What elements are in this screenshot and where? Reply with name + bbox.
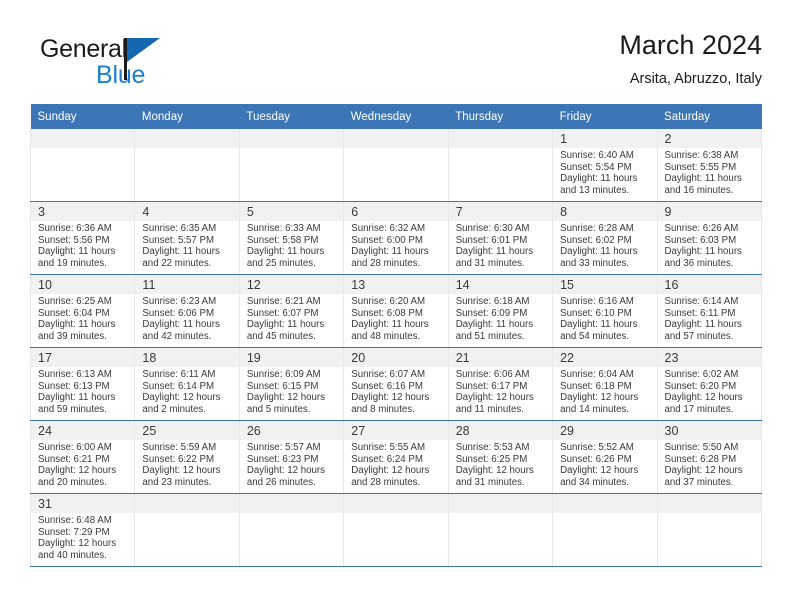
calendar-week-row: 31Sunrise: 6:48 AMSunset: 7:29 PMDayligh… [31, 494, 762, 567]
calendar-page: General Blue March 2024 Arsita, Abruzzo,… [0, 0, 792, 612]
day-number-band: 20 [344, 348, 447, 367]
sunset-text: Sunset: 6:16 PM [351, 381, 443, 393]
day-number: 30 [665, 424, 679, 438]
calendar-cell-day-27: 27Sunrise: 5:55 AMSunset: 6:24 PMDayligh… [344, 421, 448, 494]
daylight-text-line1: Daylight: 12 hours [142, 392, 234, 404]
sunrise-text: Sunrise: 6:26 AM [665, 223, 757, 235]
calendar-cell-day-1: 1Sunrise: 6:40 AMSunset: 5:54 PMDaylight… [553, 129, 657, 202]
day-number: 13 [351, 278, 365, 292]
daylight-text-line1: Daylight: 11 hours [142, 319, 234, 331]
day-number-band: 19 [240, 348, 343, 367]
calendar-cell-day-9: 9Sunrise: 6:26 AMSunset: 6:03 PMDaylight… [657, 202, 761, 275]
cell-inner: 31Sunrise: 6:48 AMSunset: 7:29 PMDayligh… [31, 494, 134, 566]
sunrise-text: Sunrise: 6:02 AM [665, 369, 757, 381]
calendar-body: 1Sunrise: 6:40 AMSunset: 5:54 PMDaylight… [31, 129, 762, 567]
sunset-text: Sunset: 6:28 PM [665, 454, 757, 466]
day-number-band: 10 [31, 275, 134, 294]
calendar-cell-empty [657, 494, 761, 567]
weekday-header-monday: Monday [135, 104, 239, 129]
weekday-header-wednesday: Wednesday [344, 104, 448, 129]
cell-inner [449, 494, 552, 566]
flag-triangle-icon [127, 38, 160, 62]
day-number-band: 18 [135, 348, 238, 367]
day-number-band [344, 494, 447, 513]
calendar-week-row: 3Sunrise: 6:36 AMSunset: 5:56 PMDaylight… [31, 202, 762, 275]
day-number-band: 9 [658, 202, 761, 221]
day-number: 1 [560, 132, 567, 146]
day-details: Sunrise: 6:21 AMSunset: 6:07 PMDaylight:… [240, 294, 343, 342]
sunrise-text: Sunrise: 5:52 AM [560, 442, 652, 454]
day-number: 15 [560, 278, 574, 292]
day-number: 6 [351, 205, 358, 219]
day-number: 4 [142, 205, 149, 219]
day-number-band [658, 494, 761, 513]
daylight-text-line2: and 28 minutes. [351, 258, 443, 270]
calendar-cell-empty [239, 129, 343, 202]
daylight-text-line1: Daylight: 12 hours [142, 465, 234, 477]
cell-inner [31, 129, 134, 201]
cell-inner: 1Sunrise: 6:40 AMSunset: 5:54 PMDaylight… [553, 129, 656, 201]
cell-inner: 8Sunrise: 6:28 AMSunset: 6:02 PMDaylight… [553, 202, 656, 274]
calendar-cell-empty [344, 494, 448, 567]
day-number-band: 15 [553, 275, 656, 294]
cell-inner: 24Sunrise: 6:00 AMSunset: 6:21 PMDayligh… [31, 421, 134, 493]
daylight-text-line1: Daylight: 12 hours [38, 465, 130, 477]
calendar-cell-day-3: 3Sunrise: 6:36 AMSunset: 5:56 PMDaylight… [31, 202, 135, 275]
day-number: 31 [38, 497, 52, 511]
day-number-band: 17 [31, 348, 134, 367]
daylight-text-line1: Daylight: 12 hours [560, 465, 652, 477]
cell-inner: 21Sunrise: 6:06 AMSunset: 6:17 PMDayligh… [449, 348, 552, 420]
daylight-text-line2: and 42 minutes. [142, 331, 234, 343]
day-number-band: 8 [553, 202, 656, 221]
day-number: 25 [142, 424, 156, 438]
day-number-band: 11 [135, 275, 238, 294]
day-number-band: 16 [658, 275, 761, 294]
calendar-cell-day-18: 18Sunrise: 6:11 AMSunset: 6:14 PMDayligh… [135, 348, 239, 421]
calendar-cell-day-11: 11Sunrise: 6:23 AMSunset: 6:06 PMDayligh… [135, 275, 239, 348]
day-number: 8 [560, 205, 567, 219]
sunset-text: Sunset: 6:20 PM [665, 381, 757, 393]
day-details: Sunrise: 6:06 AMSunset: 6:17 PMDaylight:… [449, 367, 552, 415]
cell-inner: 20Sunrise: 6:07 AMSunset: 6:16 PMDayligh… [344, 348, 447, 420]
cell-inner: 17Sunrise: 6:13 AMSunset: 6:13 PMDayligh… [31, 348, 134, 420]
daylight-text-line2: and 16 minutes. [665, 185, 757, 197]
day-number: 21 [456, 351, 470, 365]
daylight-text-line2: and 11 minutes. [456, 404, 548, 416]
sunrise-text: Sunrise: 6:32 AM [351, 223, 443, 235]
cell-inner: 26Sunrise: 5:57 AMSunset: 6:23 PMDayligh… [240, 421, 343, 493]
day-number: 17 [38, 351, 52, 365]
daylight-text-line1: Daylight: 12 hours [665, 465, 757, 477]
calendar-cell-day-23: 23Sunrise: 6:02 AMSunset: 6:20 PMDayligh… [657, 348, 761, 421]
day-number: 10 [38, 278, 52, 292]
sunrise-text: Sunrise: 6:36 AM [38, 223, 130, 235]
daylight-text-line2: and 2 minutes. [142, 404, 234, 416]
day-details: Sunrise: 6:23 AMSunset: 6:06 PMDaylight:… [135, 294, 238, 342]
day-number-band: 30 [658, 421, 761, 440]
day-number-band [344, 129, 447, 148]
daylight-text-line2: and 5 minutes. [247, 404, 339, 416]
day-number-band [240, 129, 343, 148]
day-number-band: 27 [344, 421, 447, 440]
daylight-text-line1: Daylight: 11 hours [142, 246, 234, 258]
daylight-text-line1: Daylight: 12 hours [247, 392, 339, 404]
calendar-cell-day-10: 10Sunrise: 6:25 AMSunset: 6:04 PMDayligh… [31, 275, 135, 348]
day-details: Sunrise: 6:40 AMSunset: 5:54 PMDaylight:… [553, 148, 656, 196]
daylight-text-line2: and 8 minutes. [351, 404, 443, 416]
daylight-text-line1: Daylight: 11 hours [38, 319, 130, 331]
daylight-text-line1: Daylight: 11 hours [665, 319, 757, 331]
daylight-text-line2: and 31 minutes. [456, 477, 548, 489]
calendar-cell-day-13: 13Sunrise: 6:20 AMSunset: 6:08 PMDayligh… [344, 275, 448, 348]
daylight-text-line2: and 59 minutes. [38, 404, 130, 416]
day-details: Sunrise: 6:38 AMSunset: 5:55 PMDaylight:… [658, 148, 761, 196]
day-details: Sunrise: 6:07 AMSunset: 6:16 PMDaylight:… [344, 367, 447, 415]
day-number: 9 [665, 205, 672, 219]
daylight-text-line2: and 45 minutes. [247, 331, 339, 343]
calendar-week-row: 1Sunrise: 6:40 AMSunset: 5:54 PMDaylight… [31, 129, 762, 202]
cell-inner: 29Sunrise: 5:52 AMSunset: 6:26 PMDayligh… [553, 421, 656, 493]
sunset-text: Sunset: 6:14 PM [142, 381, 234, 393]
cell-inner [344, 129, 447, 201]
day-number-band: 26 [240, 421, 343, 440]
daylight-text-line2: and 25 minutes. [247, 258, 339, 270]
day-number: 28 [456, 424, 470, 438]
sunrise-text: Sunrise: 6:14 AM [665, 296, 757, 308]
cell-inner: 3Sunrise: 6:36 AMSunset: 5:56 PMDaylight… [31, 202, 134, 274]
cell-inner [449, 129, 552, 201]
daylight-text-line2: and 13 minutes. [560, 185, 652, 197]
sunset-text: Sunset: 6:15 PM [247, 381, 339, 393]
day-number-band: 3 [31, 202, 134, 221]
calendar-cell-day-28: 28Sunrise: 5:53 AMSunset: 6:25 PMDayligh… [448, 421, 552, 494]
sunset-text: Sunset: 5:55 PM [665, 162, 757, 174]
day-details: Sunrise: 6:33 AMSunset: 5:58 PMDaylight:… [240, 221, 343, 269]
day-details: Sunrise: 6:28 AMSunset: 6:02 PMDaylight:… [553, 221, 656, 269]
cell-inner [135, 129, 238, 201]
day-number: 24 [38, 424, 52, 438]
calendar-cell-empty [344, 129, 448, 202]
day-number-band [135, 494, 238, 513]
daylight-text-line2: and 26 minutes. [247, 477, 339, 489]
sunrise-text: Sunrise: 6:25 AM [38, 296, 130, 308]
calendar-cell-empty [135, 129, 239, 202]
cell-inner [658, 494, 761, 566]
sunrise-text: Sunrise: 6:18 AM [456, 296, 548, 308]
daylight-text-line2: and 20 minutes. [38, 477, 130, 489]
sunrise-text: Sunrise: 6:00 AM [38, 442, 130, 454]
day-number: 23 [665, 351, 679, 365]
cell-inner [553, 494, 656, 566]
day-details: Sunrise: 6:11 AMSunset: 6:14 PMDaylight:… [135, 367, 238, 415]
day-number: 27 [351, 424, 365, 438]
sunset-text: Sunset: 6:00 PM [351, 235, 443, 247]
day-number: 3 [38, 205, 45, 219]
daylight-text-line2: and 48 minutes. [351, 331, 443, 343]
cell-inner: 23Sunrise: 6:02 AMSunset: 6:20 PMDayligh… [658, 348, 761, 420]
sunrise-text: Sunrise: 6:21 AM [247, 296, 339, 308]
calendar-week-row: 17Sunrise: 6:13 AMSunset: 6:13 PMDayligh… [31, 348, 762, 421]
day-number: 5 [247, 205, 254, 219]
sunset-text: Sunset: 5:54 PM [560, 162, 652, 174]
cell-inner [240, 129, 343, 201]
cell-inner: 15Sunrise: 6:16 AMSunset: 6:10 PMDayligh… [553, 275, 656, 347]
daylight-text-line1: Daylight: 12 hours [351, 465, 443, 477]
daylight-text-line1: Daylight: 12 hours [665, 392, 757, 404]
daylight-text-line1: Daylight: 11 hours [665, 173, 757, 185]
day-number: 12 [247, 278, 261, 292]
sunset-text: Sunset: 6:04 PM [38, 308, 130, 320]
daylight-text-line1: Daylight: 11 hours [351, 319, 443, 331]
cell-inner: 12Sunrise: 6:21 AMSunset: 6:07 PMDayligh… [240, 275, 343, 347]
sunrise-text: Sunrise: 5:57 AM [247, 442, 339, 454]
cell-inner: 19Sunrise: 6:09 AMSunset: 6:15 PMDayligh… [240, 348, 343, 420]
cell-inner [344, 494, 447, 566]
weekday-header-tuesday: Tuesday [239, 104, 343, 129]
cell-inner [240, 494, 343, 566]
sunset-text: Sunset: 6:17 PM [456, 381, 548, 393]
day-number: 2 [665, 132, 672, 146]
daylight-text-line2: and 19 minutes. [38, 258, 130, 270]
sunrise-text: Sunrise: 6:28 AM [560, 223, 652, 235]
daylight-text-line2: and 40 minutes. [38, 550, 130, 562]
brand-logo: General Blue [40, 34, 220, 94]
day-number-band: 22 [553, 348, 656, 367]
cell-inner: 5Sunrise: 6:33 AMSunset: 5:58 PMDaylight… [240, 202, 343, 274]
day-number-band [31, 129, 134, 148]
day-number: 18 [142, 351, 156, 365]
calendar-cell-day-16: 16Sunrise: 6:14 AMSunset: 6:11 PMDayligh… [657, 275, 761, 348]
calendar-week-row: 24Sunrise: 6:00 AMSunset: 6:21 PMDayligh… [31, 421, 762, 494]
weekday-header-saturday: Saturday [657, 104, 761, 129]
calendar-cell-day-12: 12Sunrise: 6:21 AMSunset: 6:07 PMDayligh… [239, 275, 343, 348]
sunrise-text: Sunrise: 6:16 AM [560, 296, 652, 308]
cell-inner: 18Sunrise: 6:11 AMSunset: 6:14 PMDayligh… [135, 348, 238, 420]
cell-inner: 16Sunrise: 6:14 AMSunset: 6:11 PMDayligh… [658, 275, 761, 347]
sunset-text: Sunset: 6:08 PM [351, 308, 443, 320]
day-details: Sunrise: 6:00 AMSunset: 6:21 PMDaylight:… [31, 440, 134, 488]
calendar-cell-day-14: 14Sunrise: 6:18 AMSunset: 6:09 PMDayligh… [448, 275, 552, 348]
calendar-cell-empty [448, 494, 552, 567]
calendar-cell-day-8: 8Sunrise: 6:28 AMSunset: 6:02 PMDaylight… [553, 202, 657, 275]
day-number-band [553, 494, 656, 513]
day-details: Sunrise: 6:04 AMSunset: 6:18 PMDaylight:… [553, 367, 656, 415]
page-subtitle: Arsita, Abruzzo, Italy [619, 68, 762, 90]
daylight-text-line1: Daylight: 11 hours [560, 173, 652, 185]
cell-inner: 25Sunrise: 5:59 AMSunset: 6:22 PMDayligh… [135, 421, 238, 493]
calendar-cell-day-4: 4Sunrise: 6:35 AMSunset: 5:57 PMDaylight… [135, 202, 239, 275]
day-details: Sunrise: 6:48 AMSunset: 7:29 PMDaylight:… [31, 513, 134, 561]
daylight-text-line1: Daylight: 11 hours [247, 319, 339, 331]
daylight-text-line1: Daylight: 11 hours [38, 392, 130, 404]
brand-name-blue: Blue [96, 60, 145, 90]
day-number-band [449, 494, 552, 513]
sunset-text: Sunset: 6:11 PM [665, 308, 757, 320]
sunset-text: Sunset: 5:58 PM [247, 235, 339, 247]
calendar-cell-day-15: 15Sunrise: 6:16 AMSunset: 6:10 PMDayligh… [553, 275, 657, 348]
sunset-text: Sunset: 6:01 PM [456, 235, 548, 247]
daylight-text-line1: Daylight: 12 hours [38, 538, 130, 550]
day-details: Sunrise: 6:25 AMSunset: 6:04 PMDaylight:… [31, 294, 134, 342]
sunset-text: Sunset: 6:22 PM [142, 454, 234, 466]
day-number-band [449, 129, 552, 148]
day-number: 7 [456, 205, 463, 219]
day-number-band: 2 [658, 129, 761, 148]
weekday-header-thursday: Thursday [448, 104, 552, 129]
day-number-band: 12 [240, 275, 343, 294]
daylight-text-line1: Daylight: 11 hours [247, 246, 339, 258]
sunset-text: Sunset: 6:18 PM [560, 381, 652, 393]
day-number-band: 24 [31, 421, 134, 440]
sunrise-text: Sunrise: 6:23 AM [142, 296, 234, 308]
daylight-text-line2: and 22 minutes. [142, 258, 234, 270]
day-number-band [240, 494, 343, 513]
weekday-header-friday: Friday [553, 104, 657, 129]
calendar-cell-day-19: 19Sunrise: 6:09 AMSunset: 6:15 PMDayligh… [239, 348, 343, 421]
calendar-cell-day-29: 29Sunrise: 5:52 AMSunset: 6:26 PMDayligh… [553, 421, 657, 494]
daylight-text-line2: and 33 minutes. [560, 258, 652, 270]
weekday-header-sunday: Sunday [31, 104, 135, 129]
sunrise-text: Sunrise: 6:30 AM [456, 223, 548, 235]
day-number: 22 [560, 351, 574, 365]
calendar-cell-empty [553, 494, 657, 567]
day-details: Sunrise: 5:55 AMSunset: 6:24 PMDaylight:… [344, 440, 447, 488]
calendar-cell-empty [239, 494, 343, 567]
day-number: 14 [456, 278, 470, 292]
page-header: General Blue March 2024 Arsita, Abruzzo,… [30, 28, 762, 98]
daylight-text-line2: and 28 minutes. [351, 477, 443, 489]
calendar-cell-empty [31, 129, 135, 202]
sunset-text: Sunset: 6:09 PM [456, 308, 548, 320]
daylight-text-line2: and 14 minutes. [560, 404, 652, 416]
sunrise-text: Sunrise: 6:06 AM [456, 369, 548, 381]
calendar-cell-day-25: 25Sunrise: 5:59 AMSunset: 6:22 PMDayligh… [135, 421, 239, 494]
sunset-text: Sunset: 6:03 PM [665, 235, 757, 247]
sunrise-text: Sunrise: 6:13 AM [38, 369, 130, 381]
day-number-band [135, 129, 238, 148]
cell-inner: 10Sunrise: 6:25 AMSunset: 6:04 PMDayligh… [31, 275, 134, 347]
day-number-band: 29 [553, 421, 656, 440]
day-number: 26 [247, 424, 261, 438]
daylight-text-line1: Daylight: 11 hours [38, 246, 130, 258]
sunrise-text: Sunrise: 5:59 AM [142, 442, 234, 454]
sunrise-text: Sunrise: 6:33 AM [247, 223, 339, 235]
calendar-cell-day-22: 22Sunrise: 6:04 AMSunset: 6:18 PMDayligh… [553, 348, 657, 421]
calendar-cell-day-20: 20Sunrise: 6:07 AMSunset: 6:16 PMDayligh… [344, 348, 448, 421]
day-details: Sunrise: 6:14 AMSunset: 6:11 PMDaylight:… [658, 294, 761, 342]
calendar-cell-day-26: 26Sunrise: 5:57 AMSunset: 6:23 PMDayligh… [239, 421, 343, 494]
day-number-band: 5 [240, 202, 343, 221]
day-number-band: 4 [135, 202, 238, 221]
daylight-text-line2: and 17 minutes. [665, 404, 757, 416]
day-number-band: 6 [344, 202, 447, 221]
sunset-text: Sunset: 5:56 PM [38, 235, 130, 247]
day-details: Sunrise: 5:52 AMSunset: 6:26 PMDaylight:… [553, 440, 656, 488]
page-title: March 2024 [619, 28, 762, 62]
calendar-cell-day-2: 2Sunrise: 6:38 AMSunset: 5:55 PMDaylight… [657, 129, 761, 202]
calendar-cell-day-17: 17Sunrise: 6:13 AMSunset: 6:13 PMDayligh… [31, 348, 135, 421]
cell-inner: 30Sunrise: 5:50 AMSunset: 6:28 PMDayligh… [658, 421, 761, 493]
cell-inner: 14Sunrise: 6:18 AMSunset: 6:09 PMDayligh… [449, 275, 552, 347]
daylight-text-line2: and 36 minutes. [665, 258, 757, 270]
day-details: Sunrise: 5:53 AMSunset: 6:25 PMDaylight:… [449, 440, 552, 488]
day-number-band: 23 [658, 348, 761, 367]
sunset-text: Sunset: 6:06 PM [142, 308, 234, 320]
day-number-band: 31 [31, 494, 134, 513]
sunset-text: Sunset: 6:07 PM [247, 308, 339, 320]
calendar-cell-day-24: 24Sunrise: 6:00 AMSunset: 6:21 PMDayligh… [31, 421, 135, 494]
day-number-band: 21 [449, 348, 552, 367]
daylight-text-line1: Daylight: 12 hours [247, 465, 339, 477]
sunrise-text: Sunrise: 6:48 AM [38, 515, 130, 527]
daylight-text-line1: Daylight: 12 hours [456, 465, 548, 477]
sunrise-text: Sunrise: 6:20 AM [351, 296, 443, 308]
day-number-band: 1 [553, 129, 656, 148]
calendar-cell-day-7: 7Sunrise: 6:30 AMSunset: 6:01 PMDaylight… [448, 202, 552, 275]
day-details: Sunrise: 6:32 AMSunset: 6:00 PMDaylight:… [344, 221, 447, 269]
sunset-text: Sunset: 6:25 PM [456, 454, 548, 466]
cell-inner: 22Sunrise: 6:04 AMSunset: 6:18 PMDayligh… [553, 348, 656, 420]
calendar-cell-day-30: 30Sunrise: 5:50 AMSunset: 6:28 PMDayligh… [657, 421, 761, 494]
day-details: Sunrise: 6:09 AMSunset: 6:15 PMDaylight:… [240, 367, 343, 415]
daylight-text-line2: and 57 minutes. [665, 331, 757, 343]
sunrise-text: Sunrise: 6:38 AM [665, 150, 757, 162]
sunset-text: Sunset: 6:21 PM [38, 454, 130, 466]
calendar-header-row: Sunday Monday Tuesday Wednesday Thursday… [31, 104, 762, 129]
sunrise-text: Sunrise: 6:35 AM [142, 223, 234, 235]
day-number: 11 [142, 278, 155, 292]
day-details: Sunrise: 6:20 AMSunset: 6:08 PMDaylight:… [344, 294, 447, 342]
daylight-text-line1: Daylight: 11 hours [560, 319, 652, 331]
sunset-text: Sunset: 6:23 PM [247, 454, 339, 466]
cell-inner: 27Sunrise: 5:55 AMSunset: 6:24 PMDayligh… [344, 421, 447, 493]
sunset-text: Sunset: 6:02 PM [560, 235, 652, 247]
day-number: 16 [665, 278, 679, 292]
day-number-band: 7 [449, 202, 552, 221]
calendar-cell-day-6: 6Sunrise: 6:32 AMSunset: 6:00 PMDaylight… [344, 202, 448, 275]
sunrise-text: Sunrise: 6:09 AM [247, 369, 339, 381]
sunset-text: Sunset: 6:13 PM [38, 381, 130, 393]
sunset-text: Sunset: 5:57 PM [142, 235, 234, 247]
sunset-text: Sunset: 6:24 PM [351, 454, 443, 466]
day-number-band: 25 [135, 421, 238, 440]
calendar-cell-day-31: 31Sunrise: 6:48 AMSunset: 7:29 PMDayligh… [31, 494, 135, 567]
cell-inner: 13Sunrise: 6:20 AMSunset: 6:08 PMDayligh… [344, 275, 447, 347]
daylight-text-line2: and 23 minutes. [142, 477, 234, 489]
day-details: Sunrise: 6:02 AMSunset: 6:20 PMDaylight:… [658, 367, 761, 415]
sunrise-text: Sunrise: 5:53 AM [456, 442, 548, 454]
sunrise-text: Sunrise: 6:11 AM [142, 369, 234, 381]
day-number: 20 [351, 351, 365, 365]
calendar-table: Sunday Monday Tuesday Wednesday Thursday… [30, 104, 762, 567]
cell-inner [135, 494, 238, 566]
daylight-text-line1: Daylight: 12 hours [351, 392, 443, 404]
sunrise-text: Sunrise: 6:40 AM [560, 150, 652, 162]
cell-inner: 4Sunrise: 6:35 AMSunset: 5:57 PMDaylight… [135, 202, 238, 274]
daylight-text-line1: Daylight: 11 hours [351, 246, 443, 258]
sunrise-text: Sunrise: 6:07 AM [351, 369, 443, 381]
sunset-text: Sunset: 6:10 PM [560, 308, 652, 320]
sunrise-text: Sunrise: 5:55 AM [351, 442, 443, 454]
daylight-text-line2: and 34 minutes. [560, 477, 652, 489]
day-details: Sunrise: 6:30 AMSunset: 6:01 PMDaylight:… [449, 221, 552, 269]
day-details: Sunrise: 6:36 AMSunset: 5:56 PMDaylight:… [31, 221, 134, 269]
day-details: Sunrise: 6:16 AMSunset: 6:10 PMDaylight:… [553, 294, 656, 342]
day-details: Sunrise: 6:35 AMSunset: 5:57 PMDaylight:… [135, 221, 238, 269]
title-block: March 2024 Arsita, Abruzzo, Italy [619, 28, 762, 90]
daylight-text-line2: and 31 minutes. [456, 258, 548, 270]
